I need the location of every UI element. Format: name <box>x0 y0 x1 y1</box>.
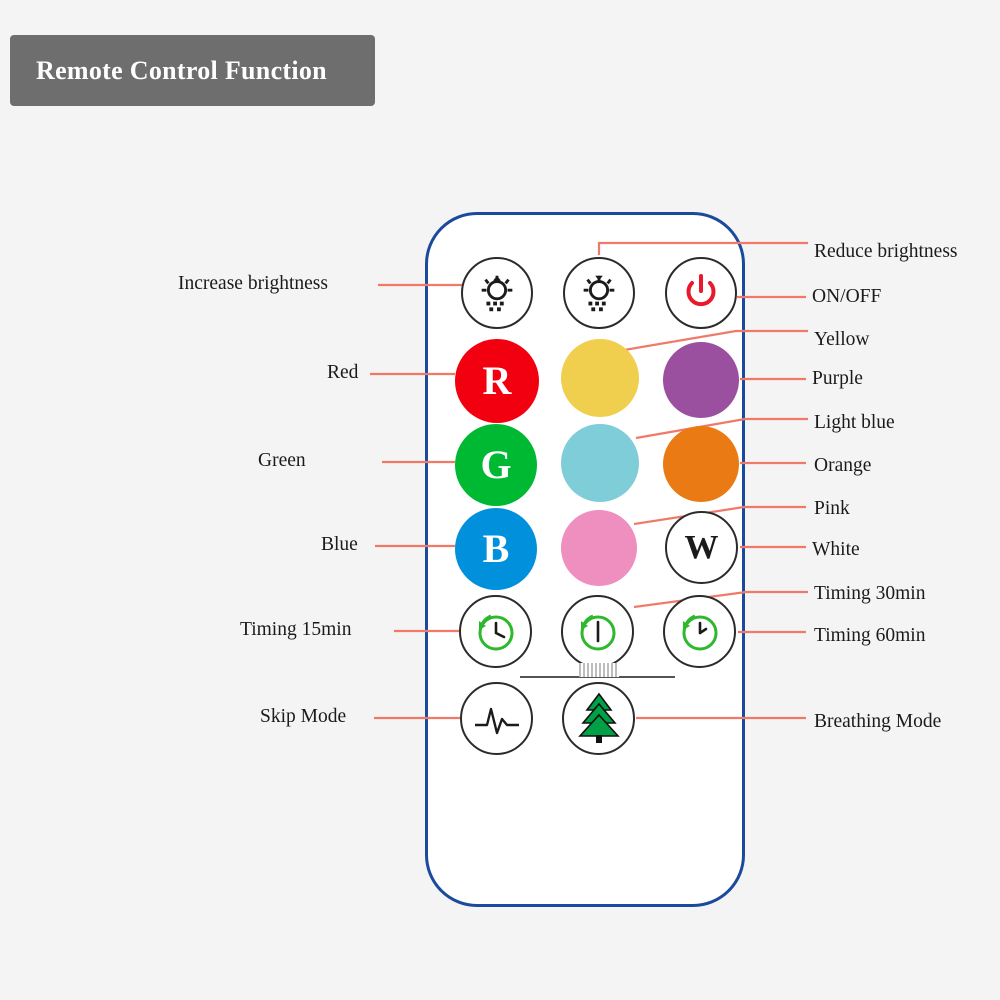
label-skip-mode: Skip Mode <box>260 706 346 728</box>
label-pink: Pink <box>814 498 850 520</box>
timing-15min-button[interactable] <box>459 595 532 668</box>
letter-r-icon: R <box>483 361 512 401</box>
clock-30-icon <box>573 607 623 657</box>
letter-w-icon: W <box>685 531 719 565</box>
page-title: Remote Control Function <box>36 56 327 86</box>
label-orange: Orange <box>814 455 871 477</box>
label-on-off: ON/OFF <box>812 286 881 308</box>
label-purple: Purple <box>812 368 863 390</box>
ir-grille <box>579 663 619 677</box>
label-breathing-mode: Breathing Mode <box>814 711 941 733</box>
red-button[interactable]: R <box>455 339 539 423</box>
label-green: Green <box>258 450 306 472</box>
label-white: White <box>812 539 860 561</box>
clock-15-icon <box>471 607 521 657</box>
green-button[interactable]: G <box>455 424 537 506</box>
reduce-brightness-button[interactable] <box>563 257 635 329</box>
yellow-button[interactable] <box>561 339 639 417</box>
label-reduce-brightness: Reduce brightness <box>814 241 958 263</box>
tree-icon <box>573 691 625 747</box>
label-timing-30min: Timing 30min <box>814 583 925 605</box>
label-increase-brightness: Increase brightness <box>178 273 328 295</box>
clock-60-icon <box>675 607 725 657</box>
title-banner: Remote Control Function <box>10 35 375 106</box>
letter-g-icon: G <box>480 445 511 485</box>
brightness-up-icon <box>474 270 520 316</box>
blue-button[interactable]: B <box>455 508 537 590</box>
label-light-blue: Light blue <box>814 412 895 434</box>
timing-30min-button[interactable] <box>561 595 634 668</box>
skip-mode-button[interactable] <box>460 682 533 755</box>
label-blue: Blue <box>321 534 358 556</box>
power-icon <box>681 273 721 313</box>
label-timing-15min: Timing 15min <box>240 619 351 641</box>
pulse-wave-icon <box>471 699 523 739</box>
brightness-down-icon <box>576 270 622 316</box>
letter-b-icon: B <box>483 529 510 569</box>
power-button[interactable] <box>665 257 737 329</box>
timing-60min-button[interactable] <box>663 595 736 668</box>
label-timing-60min: Timing 60min <box>814 625 925 647</box>
label-yellow: Yellow <box>814 329 869 351</box>
breathing-mode-button[interactable] <box>562 682 635 755</box>
purple-button[interactable] <box>663 342 739 418</box>
label-red: Red <box>327 362 358 384</box>
light-blue-button[interactable] <box>561 424 639 502</box>
white-button[interactable]: W <box>665 511 738 584</box>
orange-button[interactable] <box>663 426 739 502</box>
pink-button[interactable] <box>561 510 637 586</box>
increase-brightness-button[interactable] <box>461 257 533 329</box>
